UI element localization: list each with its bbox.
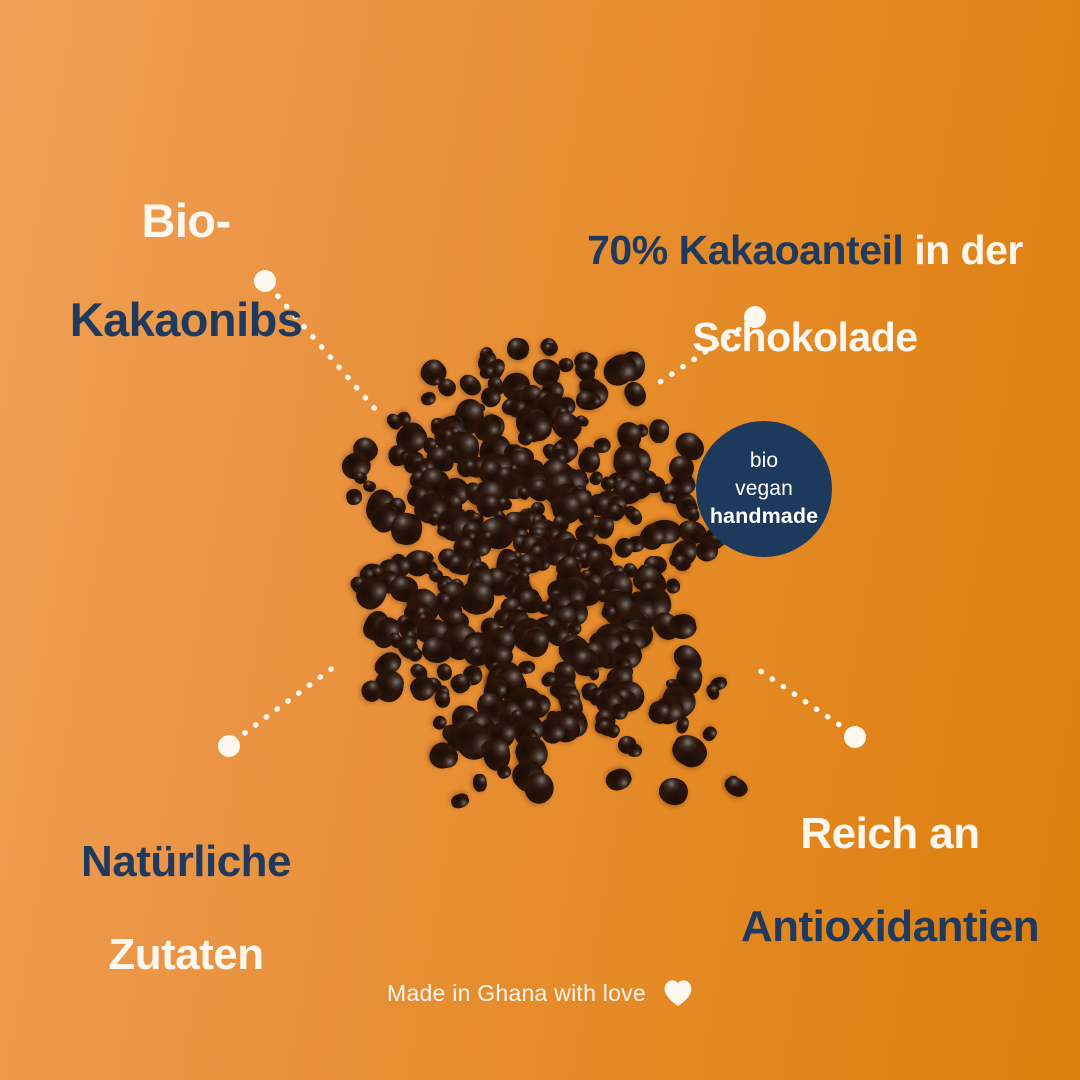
footer-text: Made in Ghana with love [387,980,646,1007]
callout-antioxidantien-line2: Antioxidantien [741,902,1039,951]
callout-bio-kakaonibs-line1: Bio- [141,194,230,247]
cocoa-nib [419,389,438,407]
cocoa-nib [345,488,364,507]
bio-vegan-handmade-badge: bio vegan handmade [696,421,832,557]
callout-reich-an-antioxidantien: Reich an Antioxidantien [700,764,1080,951]
cocoa-nibs-cluster [330,325,750,800]
cocoa-nib [450,791,472,810]
callout-zutaten-line2: Zutaten [108,930,263,979]
callout-kakaoanteil-line1b: in der [903,227,1023,273]
badge-line-bio: bio [750,447,778,475]
cocoa-nib [700,724,720,744]
footer: Made in Ghana with love [0,979,1080,1007]
cocoa-nib [655,773,692,809]
cocoa-nib [523,629,550,658]
cocoa-nib [604,766,635,794]
callout-bio-kakaonibs-line2: Kakaonibs [70,293,303,346]
heart-icon [663,979,693,1007]
callout-kakaoanteil: 70% Kakaoanteil in der Schokolade [530,186,1080,360]
infographic-canvas: Bio- Kakaonibs 70% Kakaoanteil in der Sc… [0,0,1080,1080]
cocoa-nib [626,506,643,526]
callout-zutaten-line1: Natürliche [81,837,291,886]
cocoa-nib [673,554,691,572]
cocoa-nib [626,743,642,757]
connector-zutaten [218,667,334,757]
callout-kakaoanteil-line2: Schokolade [692,314,917,360]
callout-natuerliche-zutaten: Natürliche Zutaten [0,792,372,979]
callout-bio-kakaonibs: Bio- Kakaonibs [0,146,372,345]
callout-kakaoanteil-percentage: 70% Kakaoanteil [587,227,903,273]
cocoa-nib [472,773,488,792]
cocoa-nib [505,337,530,362]
badge-line-vegan: vegan [735,475,793,503]
cocoa-nib [648,419,669,443]
cocoa-nib [433,689,453,710]
callout-antioxidantien-line1: Reich an [800,809,979,858]
connector-antioxidantien [756,668,866,748]
badge-line-handmade: handmade [710,502,818,530]
